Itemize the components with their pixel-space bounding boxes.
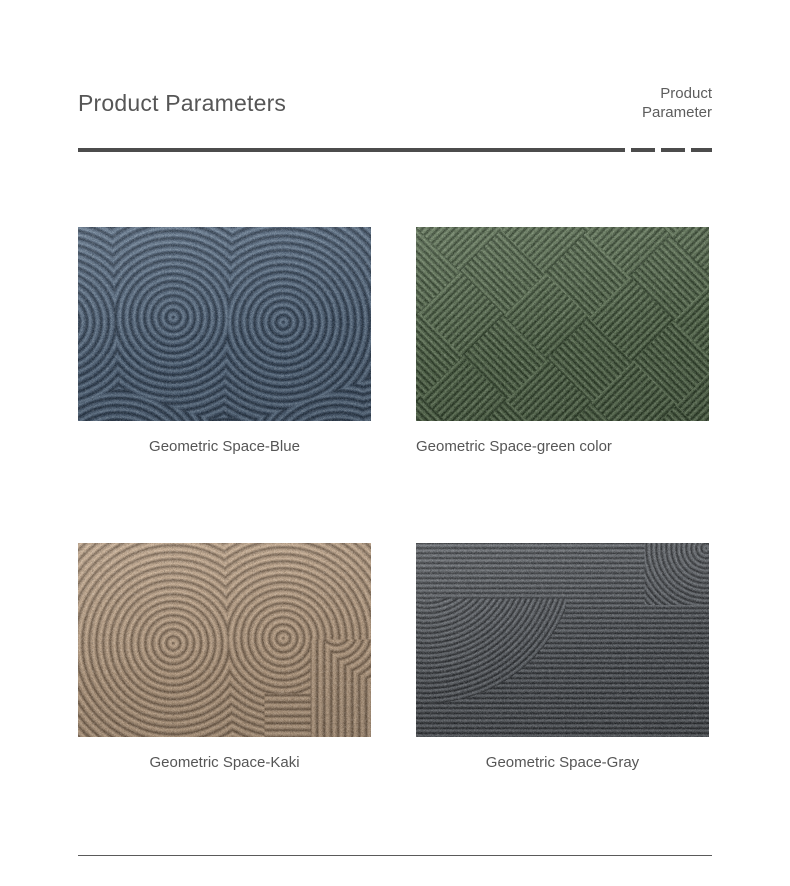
- page-title: Product Parameters: [78, 90, 286, 117]
- product-card-geometric-space-green[interactable]: Geometric Space-green color: [416, 227, 709, 456]
- carpet-swatch-blue[interactable]: [78, 227, 371, 421]
- header-subtitle-line1: Product: [592, 84, 712, 103]
- product-caption: Geometric Space-green color: [416, 437, 709, 456]
- carpet-swatch-kaki[interactable]: [78, 543, 371, 737]
- product-caption: Geometric Space-Kaki: [78, 753, 371, 772]
- header-subtitle-line2: Parameter: [592, 103, 712, 122]
- footer-divider: [78, 855, 712, 856]
- product-grid: Geometric Space-Blue Geometric Space-gre…: [78, 227, 712, 803]
- product-card-geometric-space-blue[interactable]: Geometric Space-Blue: [78, 227, 371, 456]
- divider-dash-1: [631, 148, 655, 152]
- product-row-2: Geometric Space-Kaki Geometric Space-Gra…: [78, 543, 712, 803]
- product-caption: Geometric Space-Gray: [416, 753, 709, 772]
- product-caption: Geometric Space-Blue: [78, 437, 371, 456]
- carpet-swatch-green[interactable]: [416, 227, 709, 421]
- divider-solid-segment: [78, 148, 625, 152]
- header-subtitle: Product Parameter: [592, 84, 712, 122]
- product-row-1: Geometric Space-Blue Geometric Space-gre…: [78, 227, 712, 543]
- product-parameters-page: Product Parameters Product Parameter Geo…: [0, 0, 790, 886]
- carpet-swatch-gray[interactable]: [416, 543, 709, 737]
- divider-dash-3: [691, 148, 712, 152]
- divider-dash-2: [661, 148, 685, 152]
- swatch-shading-overlay: [416, 227, 709, 421]
- swatch-shading-overlay: [416, 543, 709, 737]
- header-divider: [78, 148, 712, 152]
- swatch-shading-overlay: [78, 543, 371, 737]
- product-card-geometric-space-gray[interactable]: Geometric Space-Gray: [416, 543, 709, 772]
- product-card-geometric-space-kaki[interactable]: Geometric Space-Kaki: [78, 543, 371, 772]
- section-header: Product Parameters Product Parameter: [78, 80, 712, 160]
- swatch-shading-overlay: [78, 227, 371, 421]
